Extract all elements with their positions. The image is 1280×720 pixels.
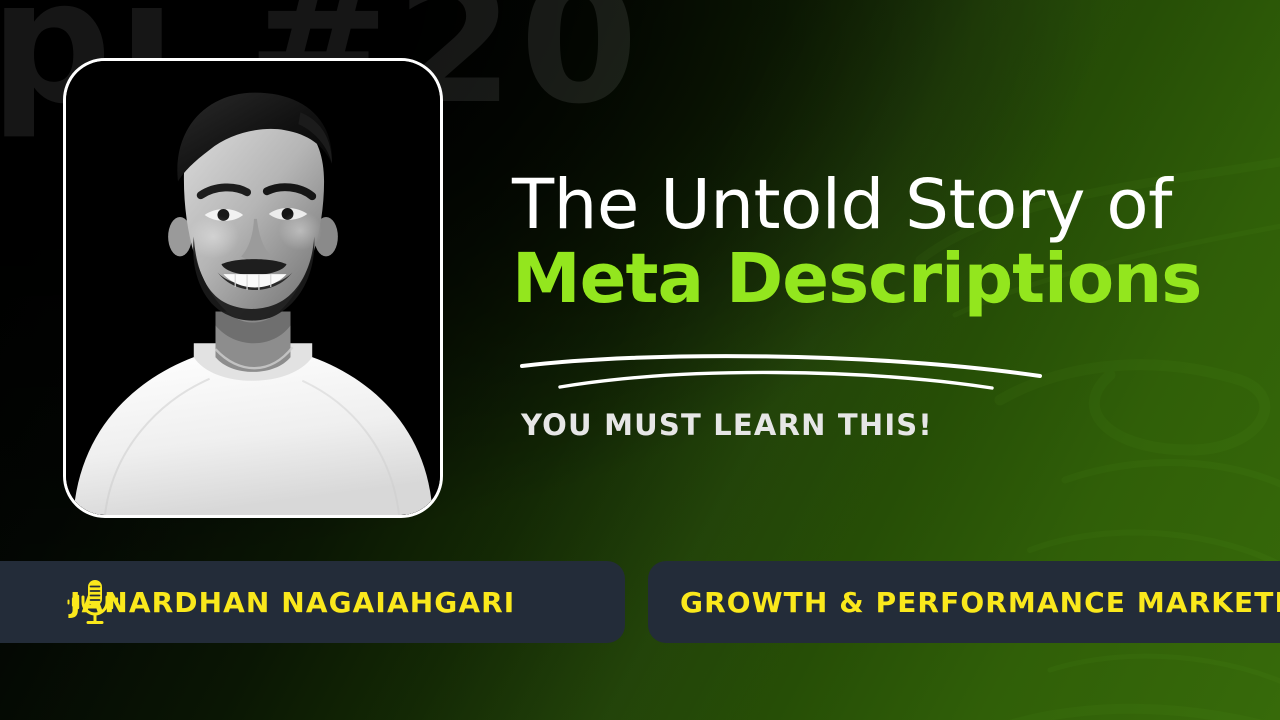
underline-swoosh: [516, 350, 1046, 392]
speaker-name-label: JANARDHAN NAGAIAHGARI: [70, 586, 515, 619]
headline-block: The Untold Story of Meta Descriptions: [512, 170, 1224, 318]
slide-canvas: pi #20: [0, 0, 1280, 720]
speaker-role-label: GROWTH & PERFORMANCE MARKETER: [680, 586, 1280, 619]
subtitle-text: YOU MUST LEARN THIS!: [521, 408, 933, 442]
microphone-icon: [66, 573, 124, 631]
title-line-2-highlight: Meta Descriptions: [512, 242, 1224, 318]
title-line-1: The Untold Story of: [512, 170, 1224, 240]
speaker-role-bar: GROWTH & PERFORMANCE MARKETER: [648, 561, 1280, 643]
speaker-portrait-image: [66, 61, 440, 515]
speaker-portrait-frame: [63, 58, 443, 518]
